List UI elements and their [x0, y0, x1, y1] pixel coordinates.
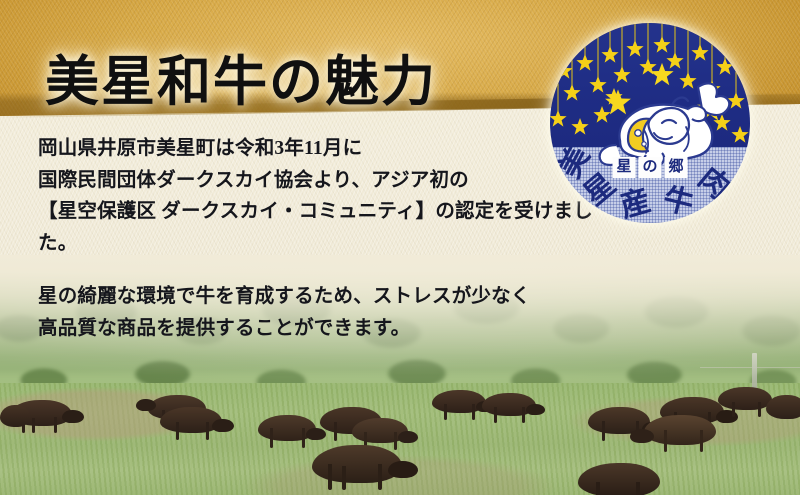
paragraph-1-line-1: 岡山県井原市美星町は令和3年11月に: [38, 133, 618, 165]
arc-char-4: 肉: [692, 161, 736, 206]
hoshi-no-sato-badge: 美 星 産 牛 肉 星 の 郷: [550, 23, 750, 223]
badge-box-1: の: [639, 157, 662, 178]
badge-box-0: 星: [613, 157, 636, 178]
promo-panel: 美星和牛の魅力 岡山県井原市美星町は令和3年11月に 国際民間団体ダークスカイ協…: [0, 0, 800, 495]
page-title: 美星和牛の魅力: [45, 55, 437, 109]
arc-char-3: 牛: [660, 182, 697, 221]
badge-artwork: 美 星 産 牛 肉: [550, 23, 750, 223]
paragraph-2-line-2: 高品質な商品を提供することができます。: [38, 313, 618, 345]
paragraph-1-line-3: 【星空保護区 ダークスカイ・コミュニティ】の認定を受けました。: [38, 196, 618, 259]
badge-box-2: 郷: [665, 157, 688, 178]
paragraph-1-line-2: 国際民間団体ダークスカイ協会より、アジア初の: [38, 165, 618, 197]
body-copy: 岡山県井原市美星町は令和3年11月に 国際民間団体ダークスカイ協会より、アジア初…: [38, 133, 618, 344]
badge-hoshi-no-sato-boxes: 星 の 郷: [613, 157, 688, 178]
paragraph-2-line-1: 星の綺麗な環境で牛を育成するため、ストレスが少なく: [38, 281, 618, 313]
arc-char-2: 産: [616, 184, 654, 223]
